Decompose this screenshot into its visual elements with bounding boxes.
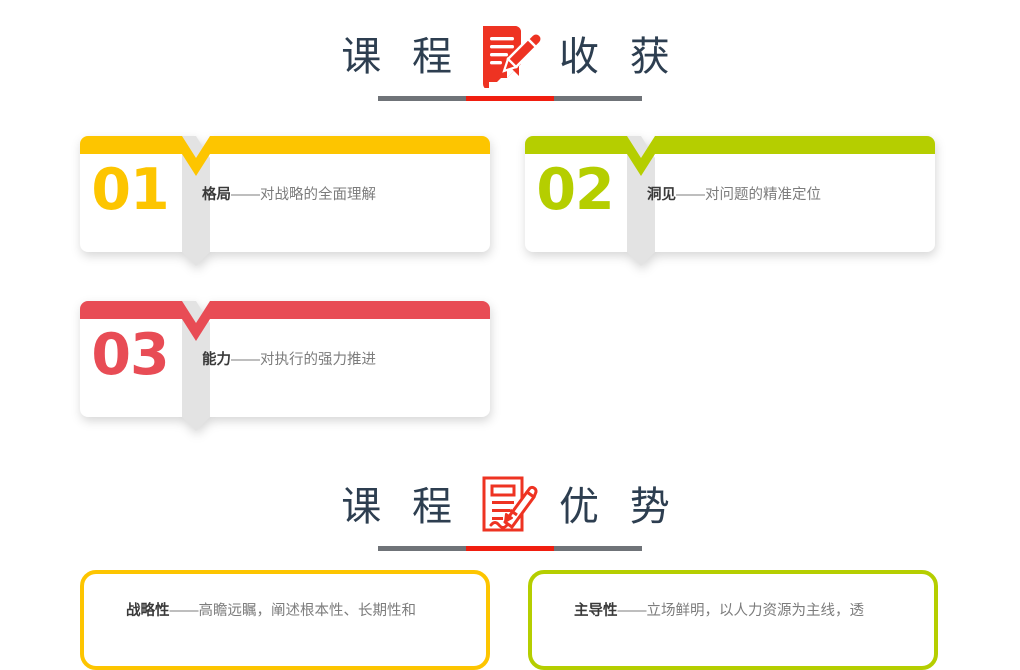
gain-card-dash: —— <box>231 187 260 203</box>
gain-card-number: 03 <box>88 327 172 384</box>
heading-row: 课 程 优 势 <box>341 474 678 540</box>
document-pen-outline-icon <box>475 476 541 538</box>
heading-underline-accent <box>466 96 554 101</box>
heading-underline <box>378 96 642 101</box>
advantage-card-title: 主导性 <box>574 603 618 619</box>
gain-card-body: 对战略的全面理解 <box>260 187 376 203</box>
section-heading-course-advantages: 课 程 优 势 <box>0 474 1020 558</box>
gain-card-title: 洞见 <box>647 187 676 203</box>
gain-card-body: 对执行的强力推进 <box>260 352 376 368</box>
advantage-card-body: 立场鲜明，以人力资源为主线，透 <box>647 603 865 619</box>
advantage-card-leadership[interactable]: 主导性——立场鲜明，以人力资源为主线，透 <box>528 570 938 670</box>
gain-card-dash: —— <box>676 187 705 203</box>
page-title-right: 优 势 <box>555 487 679 527</box>
advantage-card-body: 高瞻远瞩，阐述根本性、长期性和 <box>199 603 417 619</box>
advantage-card-text: 主导性——立场鲜明，以人力资源为主线，透 <box>574 604 864 619</box>
section-heading-course-gains: 课 程 收 获 <box>0 24 1020 108</box>
page-title-left: 课 程 <box>341 37 461 77</box>
advantage-card-text: 战略性——高瞻远瞩，阐述根本性、长期性和 <box>126 604 416 619</box>
page-title-left: 课 程 <box>341 487 461 527</box>
gain-card-body: 对问题的精准定位 <box>705 187 821 203</box>
gain-card-01[interactable]: 01 格局——对战略的全面理解 <box>80 136 490 258</box>
gain-card-title: 格局 <box>202 187 231 203</box>
advantage-card-title: 战略性 <box>126 603 170 619</box>
advantage-card-strategy[interactable]: 战略性——高瞻远瞩，阐述根本性、长期性和 <box>80 570 490 670</box>
heading-underline <box>378 546 642 551</box>
document-pencil-filled-icon <box>475 26 541 88</box>
advantage-card-dash: —— <box>618 603 647 619</box>
page-title-right: 收 获 <box>555 37 679 77</box>
advantage-card-dash: —— <box>170 603 199 619</box>
gain-card-title: 能力 <box>202 352 231 368</box>
gain-card-03[interactable]: 03 能力——对执行的强力推进 <box>80 301 490 423</box>
gain-card-number: 02 <box>533 162 617 219</box>
gain-card-text: 格局——对战略的全面理解 <box>202 188 376 203</box>
gain-card-dash: —— <box>231 352 260 368</box>
gain-card-02[interactable]: 02 洞见——对问题的精准定位 <box>525 136 935 258</box>
gain-card-text: 洞见——对问题的精准定位 <box>647 188 821 203</box>
gain-card-number: 01 <box>88 162 172 219</box>
heading-underline-accent <box>466 546 554 551</box>
heading-row: 课 程 收 获 <box>341 24 678 90</box>
gain-card-text: 能力——对执行的强力推进 <box>202 353 376 368</box>
